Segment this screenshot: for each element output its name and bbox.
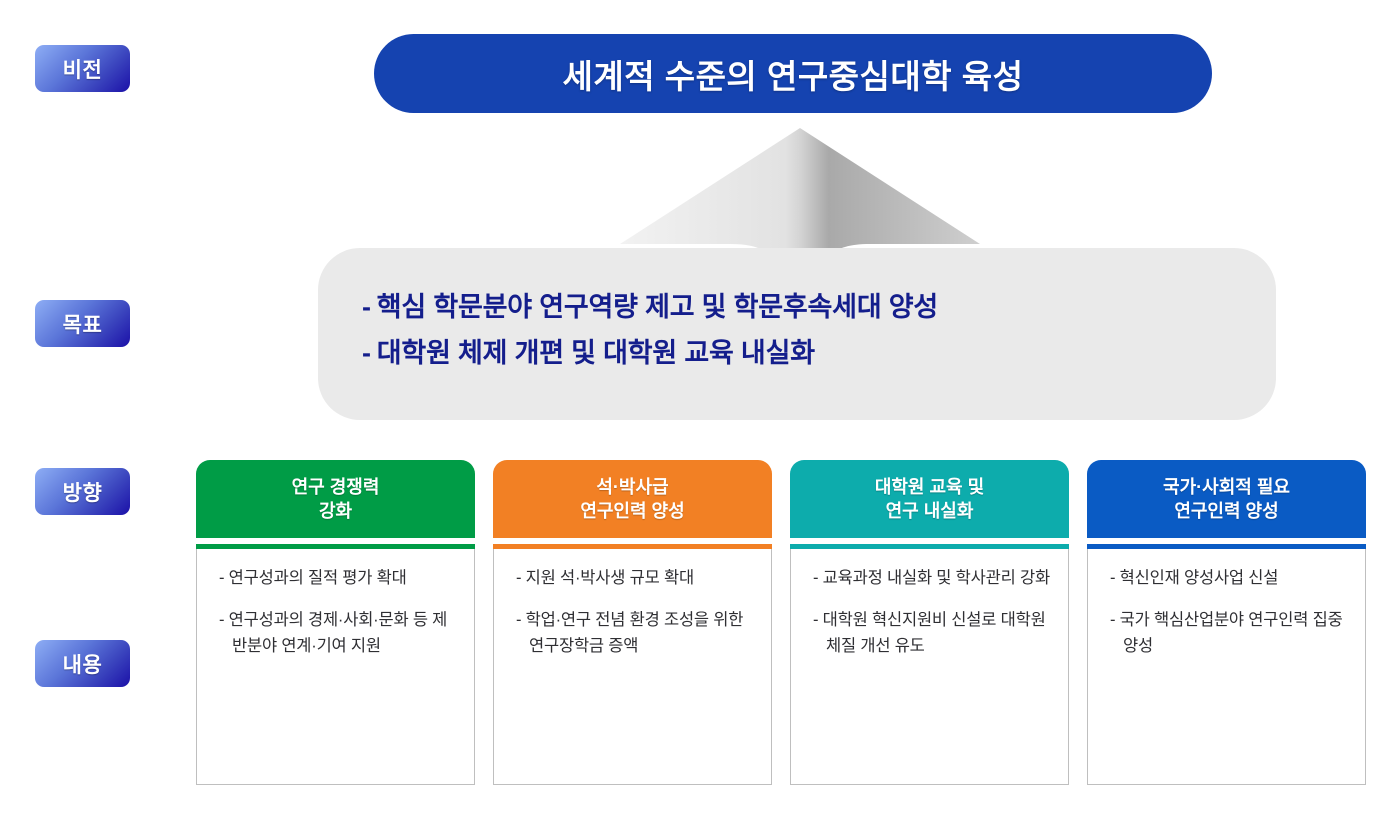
- goal-line-2: -대학원 체제 개편 및 대학원 교육 내실화: [362, 330, 1276, 376]
- card-2-bullet-2: - 학업·연구 전념 환경 조성을 위한 연구장학금 증액: [516, 607, 757, 659]
- strategy-card-row: 연구 경쟁력 강화 - 연구성과의 질적 평가 확대 - 연구성과의 경제·사회…: [196, 460, 1366, 785]
- card-1-bullet-2: - 연구성과의 경제·사회·문화 등 제반분야 연계·기여 지원: [219, 607, 460, 659]
- card-1-body: - 연구성과의 질적 평가 확대 - 연구성과의 경제·사회·문화 등 제반분야…: [196, 549, 475, 785]
- card-2-header: 석·박사급 연구인력 양성: [493, 460, 772, 538]
- diagram-canvas: 비전 목표 방향 내용 세계적 수준의 연구중심대학 육성 -핵심 학문분야 연…: [0, 0, 1398, 814]
- card-2-title-line2: 연구인력 양성: [580, 499, 684, 523]
- card-3-bullet-2: - 대학원 혁신지원비 신설로 대학원 체질 개선 유도: [813, 607, 1054, 659]
- row-label-vision-text: 비전: [63, 54, 103, 84]
- row-label-vision: 비전: [35, 45, 130, 92]
- card-4-header: 국가·사회적 필요 연구인력 양성: [1087, 460, 1366, 538]
- row-label-content-text: 내용: [63, 649, 103, 679]
- row-label-direction: 방향: [35, 468, 130, 515]
- card-1-title-line1: 연구 경쟁력: [292, 475, 380, 499]
- card-2-bullet-1: - 지원 석·박사생 규모 확대: [516, 565, 757, 591]
- card-1-header: 연구 경쟁력 강화: [196, 460, 475, 538]
- strategy-card-2[interactable]: 석·박사급 연구인력 양성 - 지원 석·박사생 규모 확대 - 학업·연구 전…: [493, 460, 772, 785]
- card-3-header: 대학원 교육 및 연구 내실화: [790, 460, 1069, 538]
- card-4-body: - 혁신인재 양성사업 신설 - 국가 핵심산업분야 연구인력 집중 양성: [1087, 549, 1366, 785]
- goal-text-1: 핵심 학문분야 연구역량 제고 및 학문후속세대 양성: [377, 292, 938, 322]
- row-label-direction-text: 방향: [63, 477, 103, 507]
- card-4-bullet-1: - 혁신인재 양성사업 신설: [1110, 565, 1351, 591]
- card-3-title-line1: 대학원 교육 및: [875, 475, 984, 499]
- card-4-title-line1: 국가·사회적 필요: [1163, 475, 1290, 499]
- goals-panel: -핵심 학문분야 연구역량 제고 및 학문후속세대 양성 -대학원 체제 개편 …: [318, 248, 1276, 420]
- card-3-bullet-1: - 교육과정 내실화 및 학사관리 강화: [813, 565, 1054, 591]
- goal-dash-2: -: [362, 338, 371, 368]
- vision-banner: 세계적 수준의 연구중심대학 육성: [374, 34, 1212, 113]
- card-4-title-line2: 연구인력 양성: [1174, 499, 1278, 523]
- row-label-goal-text: 목표: [63, 309, 103, 339]
- card-1-title-line2: 강화: [319, 499, 352, 523]
- strategy-card-3[interactable]: 대학원 교육 및 연구 내실화 - 교육과정 내실화 및 학사관리 강화 - 대…: [790, 460, 1069, 785]
- card-1-bullet-1: - 연구성과의 질적 평가 확대: [219, 565, 460, 591]
- card-2-title-line1: 석·박사급: [596, 475, 668, 499]
- row-label-goal: 목표: [35, 300, 130, 347]
- card-3-title-line2: 연구 내실화: [886, 499, 974, 523]
- vision-text: 세계적 수준의 연구중심대학 육성: [562, 50, 1023, 98]
- goal-line-1: -핵심 학문분야 연구역량 제고 및 학문후속세대 양성: [362, 284, 1276, 330]
- row-label-content: 내용: [35, 640, 130, 687]
- strategy-card-1[interactable]: 연구 경쟁력 강화 - 연구성과의 질적 평가 확대 - 연구성과의 경제·사회…: [196, 460, 475, 785]
- card-2-body: - 지원 석·박사생 규모 확대 - 학업·연구 전념 환경 조성을 위한 연구…: [493, 549, 772, 785]
- card-4-bullet-2: - 국가 핵심산업분야 연구인력 집중 양성: [1110, 607, 1351, 659]
- goal-dash-1: -: [362, 292, 371, 322]
- card-3-body: - 교육과정 내실화 및 학사관리 강화 - 대학원 혁신지원비 신설로 대학원…: [790, 549, 1069, 785]
- strategy-card-4[interactable]: 국가·사회적 필요 연구인력 양성 - 혁신인재 양성사업 신설 - 국가 핵심…: [1087, 460, 1366, 785]
- goal-text-2: 대학원 체제 개편 및 대학원 교육 내실화: [377, 338, 815, 368]
